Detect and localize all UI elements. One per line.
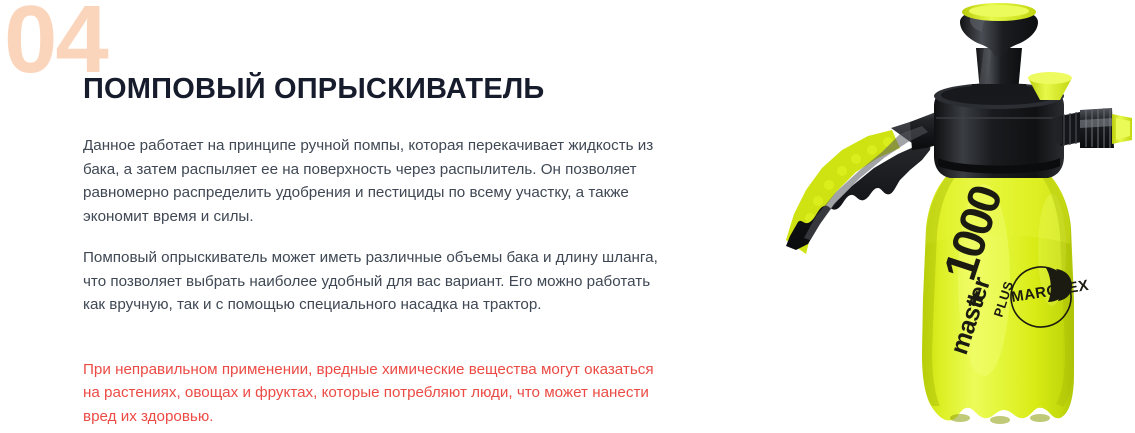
paragraph-variants: Помповый опрыскиватель может иметь разли… [83, 246, 663, 317]
text-column: 04 ПОМПОВЫЙ ОПРЫСКИВАТЕЛЬ Данное работае… [0, 0, 700, 433]
pump-knob [960, 3, 1038, 96]
paragraph-warning: При неправильном применении, вредные хим… [83, 358, 663, 429]
spray-nozzle [1052, 108, 1132, 148]
sprayer-illustration: master 1000 + PLUS MAROLEX [760, 0, 1135, 433]
page-title: ПОМПОВЫЙ ОПРЫСКИВАТЕЛЬ [83, 73, 544, 106]
slide-root: 04 ПОМПОВЫЙ ОПРЫСКИВАТЕЛЬ Данное работае… [0, 0, 1135, 433]
body-copy: Данное работает на принципе ручной помпы… [83, 134, 663, 428]
paragraph-description: Данное работает на принципе ручной помпы… [83, 134, 663, 228]
sprayer-tank: master 1000 + PLUS MAROLEX [922, 172, 1090, 424]
product-image: master 1000 + PLUS MAROLEX [760, 0, 1135, 433]
